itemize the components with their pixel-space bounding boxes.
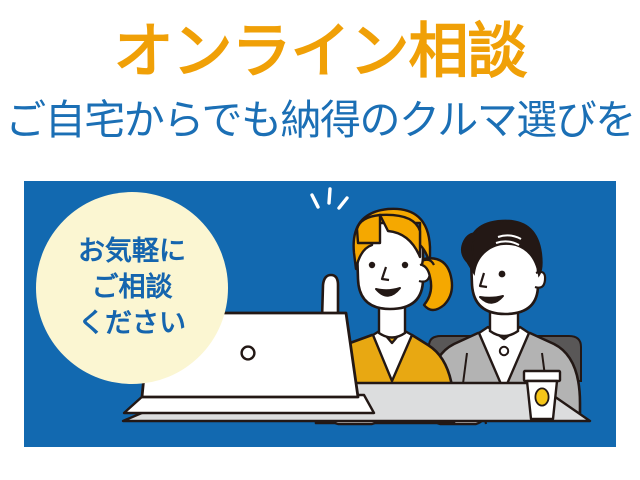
coffee-cup-logo-icon bbox=[535, 388, 548, 405]
illustration-panel: お気軽に ご相談 ください bbox=[24, 181, 616, 447]
woman-eye-right bbox=[402, 262, 408, 268]
laptop-logo-icon bbox=[242, 347, 255, 360]
page-subtitle: ご自宅からでも納得のクルマ選びを bbox=[0, 100, 640, 141]
badge-line-3: ください bbox=[78, 306, 186, 342]
badge-line-2: ご相談 bbox=[92, 270, 173, 306]
headline-area: オンライン相談 ご自宅からでも納得のクルマ選びを bbox=[0, 0, 640, 175]
woman-eye-left bbox=[369, 262, 375, 268]
page-title: オンライン相談 bbox=[0, 22, 640, 82]
status-badge: お気軽に ご相談 ください bbox=[36, 192, 228, 384]
coffee-cup bbox=[524, 371, 560, 419]
badge-line-1: お気軽に bbox=[78, 234, 186, 270]
online-consultation-banner: オンライン相談 ご自宅からでも納得のクルマ選びを bbox=[0, 0, 640, 480]
sparkle-icon bbox=[312, 189, 347, 208]
man-eye bbox=[499, 271, 506, 278]
